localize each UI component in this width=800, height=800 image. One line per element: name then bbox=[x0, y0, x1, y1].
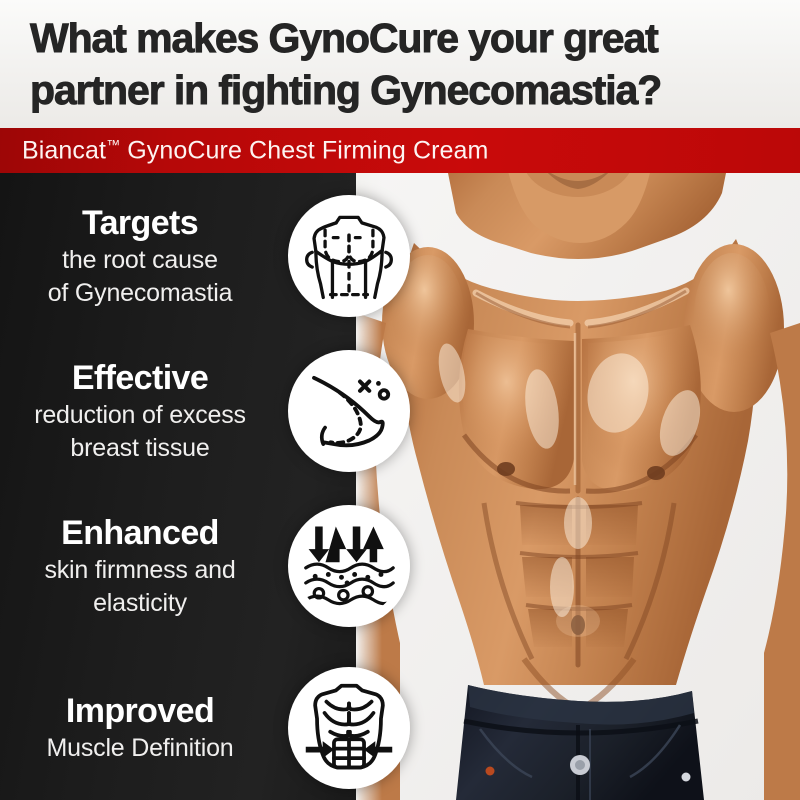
feature-item-enhanced[interactable]: Enhanced skin firmness and elasticity bbox=[0, 488, 430, 643]
header-bar: What makes GynoCure your great partner i… bbox=[0, 0, 800, 128]
feature-item-improved[interactable]: Improved Muscle Definition bbox=[0, 650, 430, 800]
feature-subtitle-line2: elasticity bbox=[93, 588, 187, 619]
features-list: Targets the root cause of Gynecomastia bbox=[0, 173, 800, 800]
product-name-text: Biancat™ GynoCure Chest Firming Cream bbox=[22, 136, 488, 165]
icon-disc bbox=[297, 514, 401, 618]
feature-subtitle-line2: of Gynecomastia bbox=[48, 278, 233, 309]
feature-title: Effective bbox=[72, 358, 208, 398]
feature-subtitle-line1: the root cause bbox=[62, 245, 218, 276]
breast-reduction-profile-icon bbox=[288, 350, 410, 472]
headline-line-1: What makes GynoCure your great bbox=[30, 12, 778, 64]
brand-name: Biancat bbox=[22, 136, 106, 164]
muscular-torso-arrows-icon bbox=[288, 667, 410, 789]
feature-item-effective[interactable]: Effective reduction of excess breast tis… bbox=[0, 333, 430, 488]
feature-title: Enhanced bbox=[61, 513, 219, 553]
feature-text-block: Effective reduction of excess breast tis… bbox=[0, 333, 280, 488]
feature-item-targets[interactable]: Targets the root cause of Gynecomastia bbox=[0, 178, 430, 333]
icon-disc bbox=[297, 359, 401, 463]
male-torso-dashed-chest-icon bbox=[288, 195, 410, 317]
skin-layers-arrows-icon bbox=[288, 505, 410, 627]
feature-text-block: Targets the root cause of Gynecomastia bbox=[0, 178, 280, 333]
advertisement-canvas: Targets the root cause of Gynecomastia bbox=[0, 0, 800, 800]
feature-text-block: Enhanced skin firmness and elasticity bbox=[0, 488, 280, 643]
icon-disc bbox=[297, 204, 401, 308]
product-name-banner: Biancat™ GynoCure Chest Firming Cream bbox=[0, 128, 800, 173]
feature-subtitle-line2: breast tissue bbox=[70, 433, 209, 464]
page-title: What makes GynoCure your great partner i… bbox=[30, 12, 778, 116]
product-name: GynoCure Chest Firming Cream bbox=[120, 136, 488, 164]
feature-text-block: Improved Muscle Definition bbox=[0, 650, 280, 800]
trademark-symbol: ™ bbox=[106, 136, 120, 152]
feature-subtitle-line1: Muscle Definition bbox=[47, 733, 234, 764]
feature-title: Targets bbox=[82, 203, 198, 243]
feature-subtitle-line1: skin firmness and bbox=[44, 555, 235, 586]
feature-subtitle-line1: reduction of excess bbox=[34, 400, 246, 431]
feature-title: Improved bbox=[66, 691, 214, 731]
icon-disc bbox=[297, 676, 401, 780]
headline-line-2: partner in fighting Gynecomastia? bbox=[30, 64, 778, 116]
